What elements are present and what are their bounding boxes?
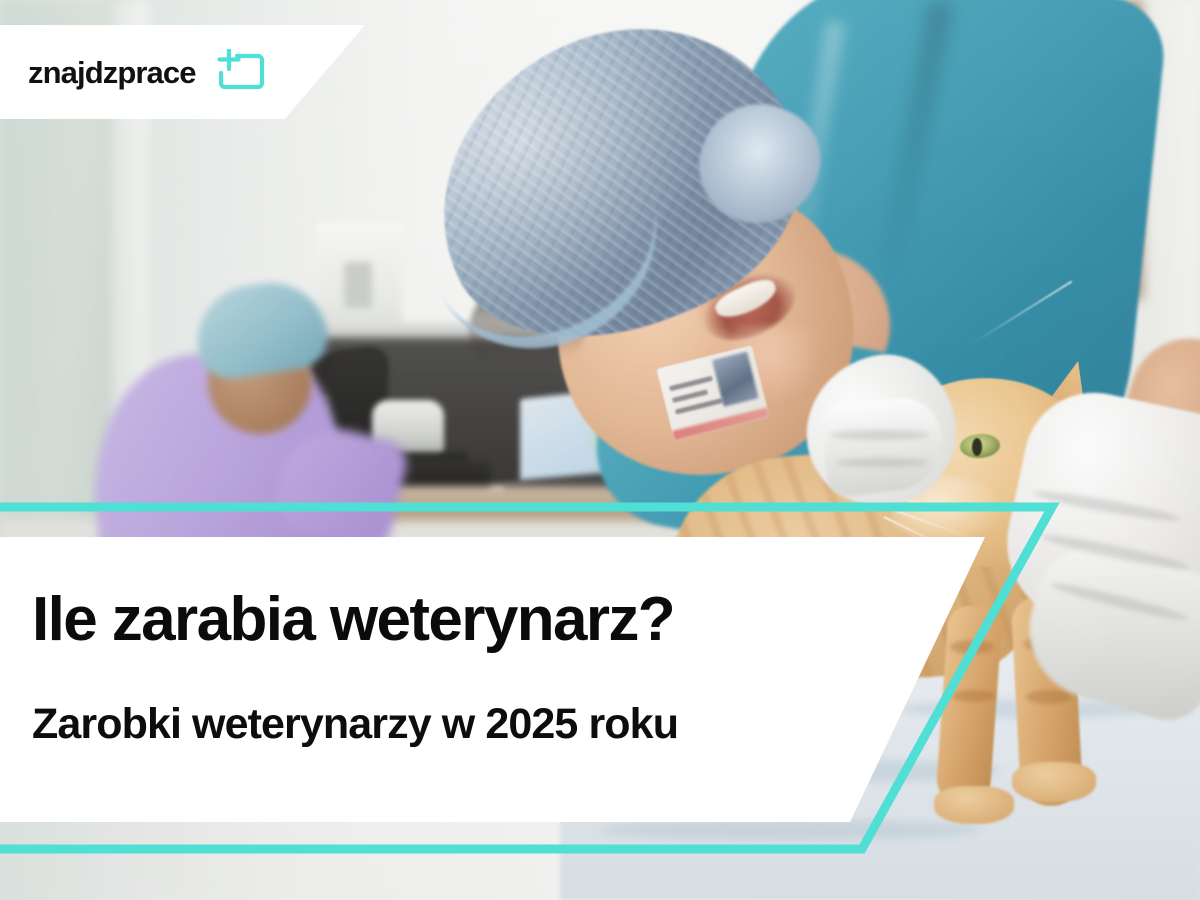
logo-lockup[interactable]: znajdzprace (28, 49, 267, 95)
glove-wrinkle (836, 458, 928, 467)
glove-wrinkle (830, 430, 930, 440)
cat-leg-stripe (950, 640, 994, 654)
page-title: Ile zarabia weterynarz? (32, 589, 872, 651)
id-badge-textline (672, 389, 708, 403)
cat-pupil (972, 438, 982, 456)
headline-panel: Ile zarabia weterynarz? Zarobki weteryna… (0, 537, 985, 822)
cat-paw-left (934, 786, 1014, 824)
cat-leg-stripe (1026, 690, 1072, 704)
cat-leg-stripe (952, 690, 996, 702)
cat-paw-right (1012, 762, 1096, 802)
logo-wordmark: znajdzprace (28, 57, 196, 88)
dispenser-slot (344, 262, 372, 308)
hero-banner: Ile zarabia weterynarz? Zarobki weteryna… (0, 0, 1200, 900)
plus-square-bracket-icon (211, 49, 267, 95)
headline-text-block: Ile zarabia weterynarz? Zarobki weteryna… (32, 589, 872, 746)
page-subtitle: Zarobki weterynarzy w 2025 roku (32, 651, 872, 746)
drape-fold (600, 820, 980, 840)
